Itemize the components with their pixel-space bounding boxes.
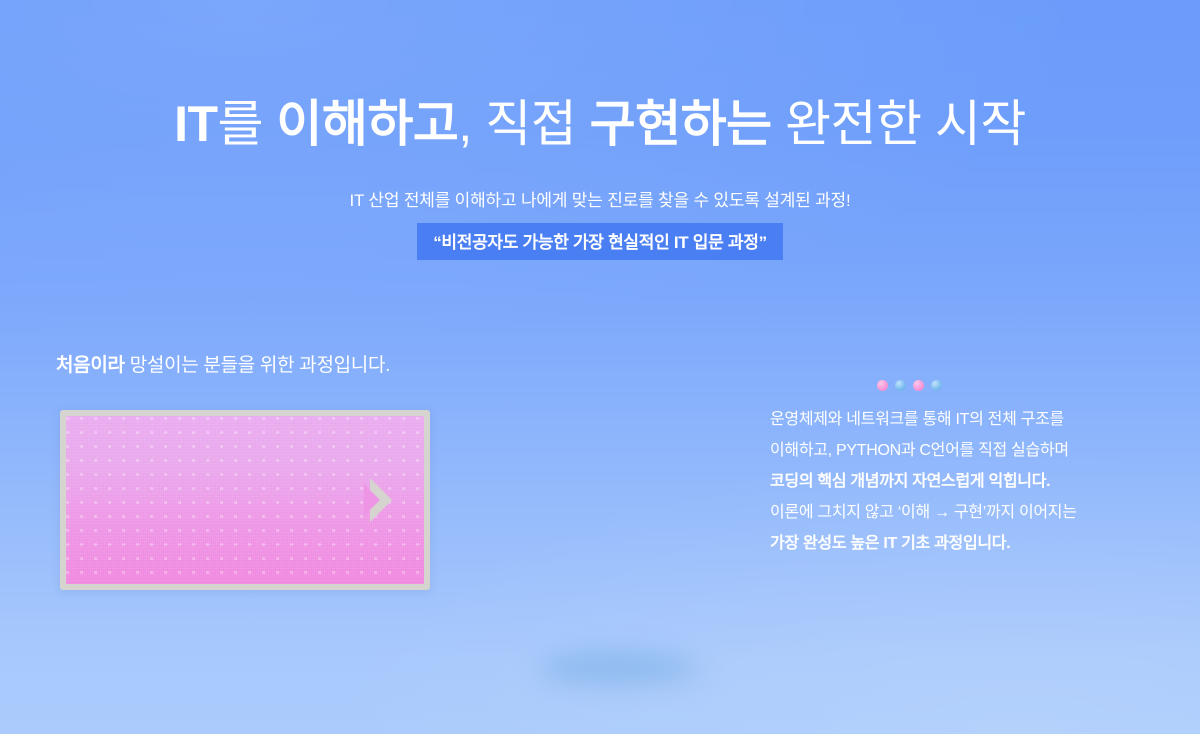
copy-line-1: 운영체제와 네트워크를 통해 IT의 전체 구조를 — [770, 404, 1140, 435]
speech-bubble-tail-fill — [364, 484, 380, 516]
dot-pink-2-icon — [913, 380, 924, 391]
hero-section: IT를 이해하고, 직접 구현하는 완전한 시작 IT 산업 전체를 이해하고 … — [0, 96, 1200, 260]
right-copy-block: 운영체제와 네트워크를 통해 IT의 전체 구조를 이해하고, PYTHON과 … — [770, 404, 1140, 559]
title-part-comma: , — [458, 96, 485, 152]
copy-line-5: 가장 완성도 높은 IT 기초 과정입니다. — [770, 528, 1140, 559]
page-title: IT를 이해하고, 직접 구현하는 완전한 시작 — [0, 96, 1200, 152]
title-part-implement: 구현하는 — [590, 96, 772, 152]
hero-subtitle: IT 산업 전체를 이해하고 나에게 맞는 진로를 찾을 수 있도록 설계된 과… — [0, 186, 1200, 211]
title-part-understand: 이해하고 — [276, 96, 458, 152]
bottom-blurred-ellipse — [538, 652, 698, 684]
hero-badge-wrapper: “비전공자도 가능한 가장 현실적인 IT 입문 과정” — [0, 223, 1200, 260]
hero-highlight-badge: “비전공자도 가능한 가장 현실적인 IT 입문 과정” — [417, 223, 783, 260]
title-part-complete-start: 완전한 시작 — [772, 96, 1026, 152]
copy-line-3: 코딩의 핵심 개념까지 자연스럽게 익힙니다. — [770, 466, 1140, 497]
title-part-directly: 직접 — [485, 96, 589, 152]
copy-line-4: 이론에 그치지 않고 ‘이해 → 구현’까지 이어지는 — [770, 497, 1140, 528]
dot-blue-1-icon — [895, 380, 906, 391]
title-part-reul: 를 — [218, 96, 277, 152]
lead-strong: 처음이라 — [56, 355, 125, 376]
dot-pink-1-icon — [877, 380, 888, 391]
title-part-it: IT — [174, 96, 217, 152]
lead-text: 처음이라 망설이는 분들을 위한 과정입니다. — [56, 350, 390, 377]
lead-rest: 망설이는 분들을 위한 과정입니다. — [125, 355, 390, 376]
dot-blue-2-icon — [931, 380, 942, 391]
copy-line-2: 이해하고, PYTHON과 C언어를 직접 실습하며 — [770, 435, 1140, 466]
decorative-dots-group — [877, 380, 942, 391]
